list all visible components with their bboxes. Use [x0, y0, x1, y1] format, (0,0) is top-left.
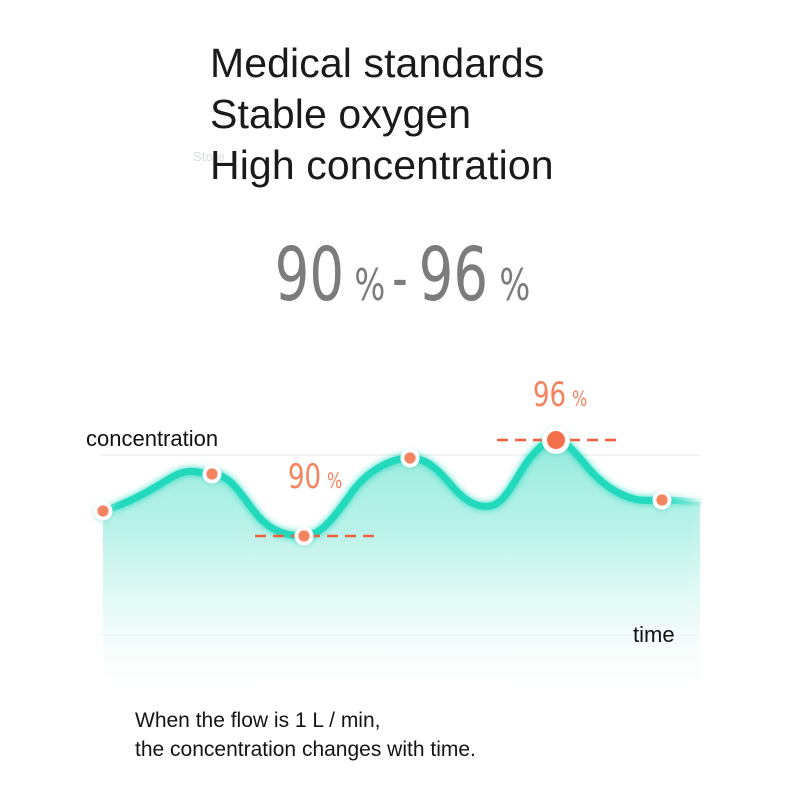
annotation-96-symbol: % — [572, 389, 587, 410]
concentration-range-figure: 90%-96% — [0, 238, 800, 312]
range-high-percent-symbol: % — [499, 264, 530, 308]
annotation-96-value: 96 — [533, 378, 566, 412]
data-point-marker[interactable] — [401, 449, 420, 468]
range-low-percent-symbol: % — [355, 264, 386, 308]
caption-line-1: When the flow is 1 L / min, — [135, 706, 476, 735]
annotation-90-percent: 90% — [288, 460, 345, 494]
x-axis-label: time — [633, 622, 675, 648]
range-high-value: 96 — [419, 238, 488, 312]
concentration-time-chart: concentration time 90% 96% — [0, 350, 800, 700]
headline-line-3: High concentration — [210, 140, 770, 191]
annotation-96-percent: 96% — [533, 378, 590, 412]
chart-caption: When the flow is 1 L / min, the concentr… — [135, 706, 476, 764]
data-point-marker[interactable] — [94, 502, 113, 521]
caption-line-2: the concentration changes with time. — [135, 735, 476, 764]
chart-right-fade — [690, 350, 800, 700]
data-point-marker-peak[interactable] — [542, 426, 570, 454]
range-separator: - — [392, 244, 407, 310]
data-point-marker[interactable] — [295, 527, 314, 546]
y-axis-label: concentration — [86, 426, 218, 452]
range-low-value: 90 — [274, 238, 343, 312]
data-point-marker[interactable] — [203, 465, 222, 484]
chart-canvas — [0, 350, 800, 700]
annotation-90-symbol: % — [327, 471, 342, 492]
headline-line-1: Medical standards — [210, 38, 770, 89]
annotation-90-value: 90 — [288, 460, 321, 494]
headline-block: Medical standards Stable oxygen High con… — [210, 38, 770, 191]
chart-area-fill — [103, 440, 700, 700]
data-point-marker[interactable] — [653, 491, 672, 510]
headline-line-2: Stable oxygen — [210, 89, 770, 140]
